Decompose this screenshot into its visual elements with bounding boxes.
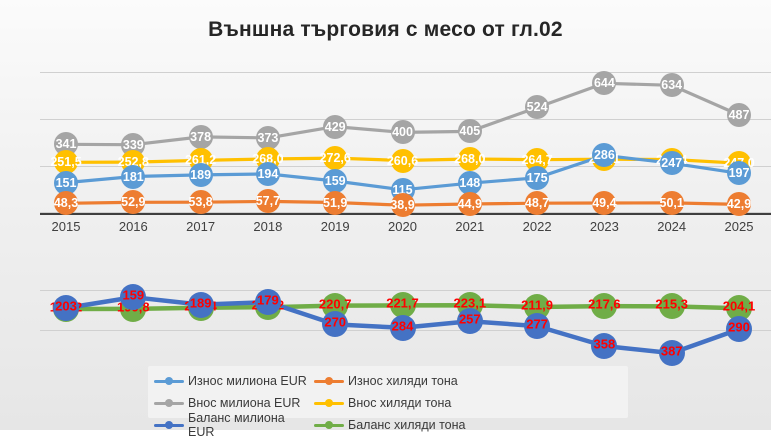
x-tick-label: 2024	[657, 219, 686, 234]
data-point[interactable]	[256, 189, 280, 213]
data-point[interactable]	[323, 146, 347, 170]
x-tick-label: 2025	[725, 219, 754, 234]
data-point[interactable]	[322, 311, 348, 337]
plot-area: 341339378373429400405524644634487251,525…	[40, 62, 771, 352]
data-point[interactable]	[255, 289, 281, 315]
legend-label: Износ милиона EUR	[188, 374, 307, 388]
data-point[interactable]	[121, 190, 145, 214]
data-point[interactable]	[592, 71, 616, 95]
x-tick-label: 2018	[253, 219, 282, 234]
data-point[interactable]	[120, 284, 146, 310]
data-point[interactable]	[458, 119, 482, 143]
legend-item[interactable]: Износ хиляди тона	[314, 370, 474, 392]
data-point[interactable]	[727, 192, 751, 216]
data-point[interactable]	[458, 192, 482, 216]
data-point[interactable]	[659, 293, 685, 319]
legend-item[interactable]: Внос хиляди тона	[314, 392, 474, 414]
x-tick-label: 2015	[52, 219, 81, 234]
data-point[interactable]	[391, 193, 415, 217]
data-point[interactable]	[659, 340, 685, 366]
legend-marker-icon	[154, 397, 184, 409]
legend-label: Внос милиона EUR	[188, 396, 300, 410]
data-point[interactable]	[525, 95, 549, 119]
data-point[interactable]	[727, 103, 751, 127]
data-point[interactable]	[592, 191, 616, 215]
legend-label: Износ хиляди тона	[348, 374, 458, 388]
data-point[interactable]	[591, 333, 617, 359]
data-point[interactable]	[726, 316, 752, 342]
data-point[interactable]	[121, 165, 145, 189]
data-point[interactable]	[591, 293, 617, 319]
data-point[interactable]	[524, 313, 550, 339]
data-point[interactable]	[390, 315, 416, 341]
data-point[interactable]	[53, 295, 79, 321]
data-point[interactable]	[457, 308, 483, 334]
legend-marker-icon	[154, 419, 184, 431]
legend-item[interactable]: Износ милиона EUR	[154, 370, 314, 392]
data-point[interactable]	[660, 151, 684, 175]
data-point[interactable]	[54, 191, 78, 215]
legend-marker-icon	[314, 419, 344, 431]
legend-marker-icon	[314, 375, 344, 387]
x-tick-label: 2022	[523, 219, 552, 234]
data-point[interactable]	[189, 125, 213, 149]
data-point[interactable]	[525, 166, 549, 190]
data-point[interactable]	[592, 143, 616, 167]
legend-label: Баланс милиона EUR	[188, 411, 314, 439]
legend-item[interactable]: Баланс милиона EUR	[154, 414, 314, 436]
legend-marker-icon	[314, 397, 344, 409]
x-tick-label: 2016	[119, 219, 148, 234]
data-point[interactable]	[660, 73, 684, 97]
data-point[interactable]	[391, 120, 415, 144]
data-point[interactable]	[727, 161, 751, 185]
x-tick-label: 2021	[455, 219, 484, 234]
x-tick-label: 2019	[321, 219, 350, 234]
data-point[interactable]	[189, 190, 213, 214]
data-point[interactable]	[256, 162, 280, 186]
x-tick-label: 2017	[186, 219, 215, 234]
data-point[interactable]	[189, 163, 213, 187]
legend-label: Внос хиляди тона	[348, 396, 451, 410]
data-point[interactable]	[188, 292, 214, 318]
data-point[interactable]	[323, 115, 347, 139]
chart-title: Външна търговия с месо от гл.02	[0, 18, 771, 42]
data-point[interactable]	[525, 191, 549, 215]
x-tick-label: 2023	[590, 219, 619, 234]
data-point[interactable]	[660, 191, 684, 215]
data-point[interactable]	[458, 147, 482, 171]
chart-container: Външна търговия с месо от гл.02 34133937…	[0, 0, 771, 430]
data-point[interactable]	[323, 191, 347, 215]
chart-legend: Износ милиона EURИзнос хиляди тонаВнос м…	[148, 366, 628, 418]
legend-marker-icon	[154, 375, 184, 387]
x-tick-label: 2020	[388, 219, 417, 234]
data-point[interactable]	[391, 149, 415, 173]
data-point[interactable]	[323, 169, 347, 193]
legend-item[interactable]: Баланс хиляди тона	[314, 414, 474, 436]
